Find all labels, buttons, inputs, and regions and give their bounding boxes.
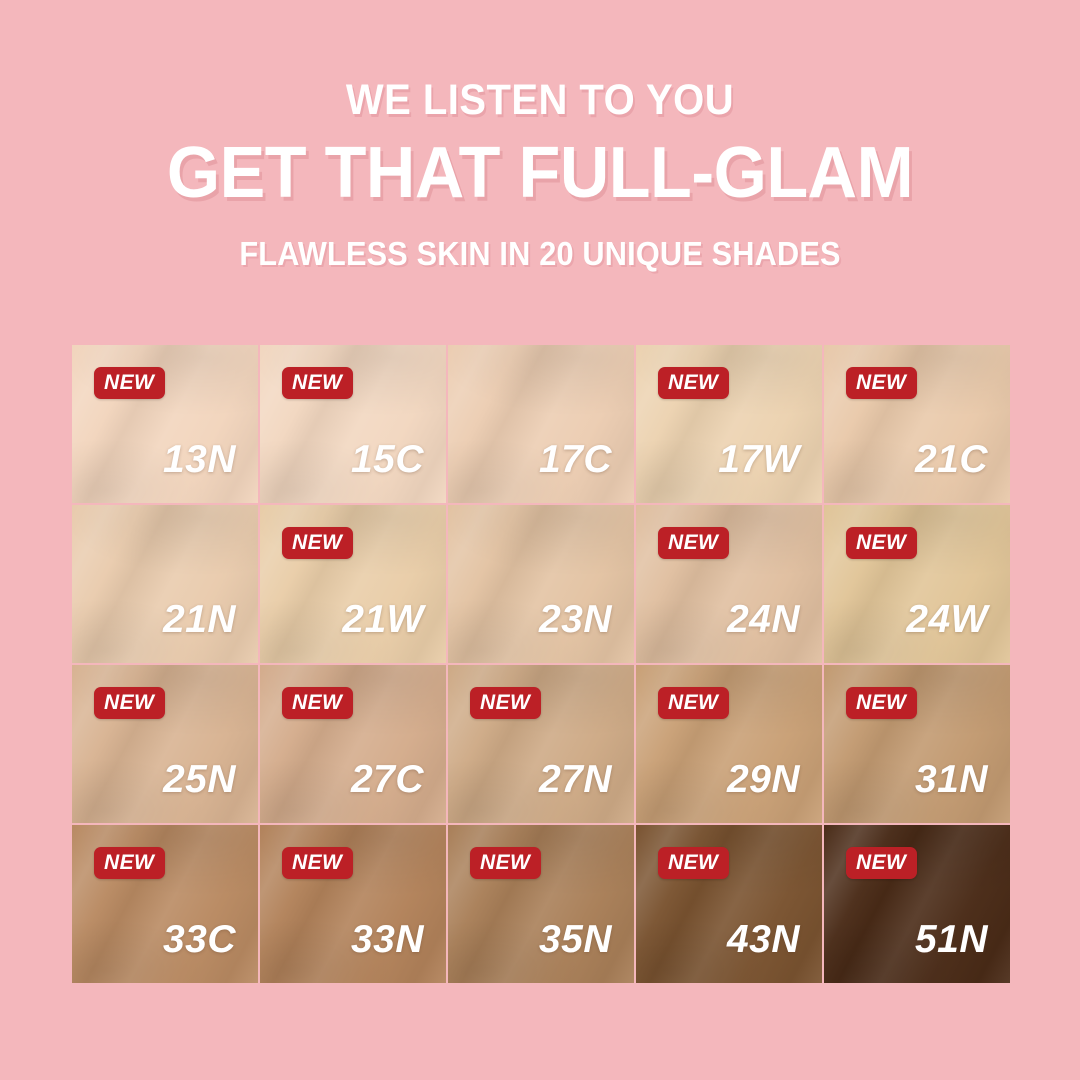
new-badge: NEW xyxy=(658,527,729,559)
shade-swatch[interactable]: NEW17C xyxy=(448,345,634,503)
shade-swatch[interactable]: NEW21N xyxy=(72,505,258,663)
shade-swatch[interactable]: NEW51N xyxy=(824,825,1010,983)
shade-code-label: 17C xyxy=(539,440,612,479)
shade-swatch[interactable]: NEW27N xyxy=(448,665,634,823)
shade-code-label: 24W xyxy=(906,600,988,639)
shade-code-label: 21C xyxy=(915,440,988,479)
shade-code-label: 13N xyxy=(163,440,236,479)
new-badge: NEW xyxy=(846,847,917,879)
new-badge: NEW xyxy=(846,367,917,399)
shade-code-label: 17W xyxy=(718,440,800,479)
new-badge: NEW xyxy=(470,687,541,719)
new-badge: NEW xyxy=(658,687,729,719)
header-block: WE LISTEN TO YOU GET THAT FULL-GLAM FLAW… xyxy=(0,78,1080,272)
new-badge: NEW xyxy=(470,847,541,879)
shade-code-label: 25N xyxy=(163,760,236,799)
shade-code-label: 33N xyxy=(351,920,424,959)
shade-swatch[interactable]: NEW21C xyxy=(824,345,1010,503)
shade-swatch[interactable]: NEW21W xyxy=(260,505,446,663)
shade-code-label: 33C xyxy=(163,920,236,959)
shade-swatch[interactable]: NEW33N xyxy=(260,825,446,983)
shade-code-label: 21N xyxy=(163,600,236,639)
shade-swatch-grid: NEW13NNEW15CNEW17CNEW17WNEW21CNEW21NNEW2… xyxy=(72,345,1010,983)
shade-code-label: 43N xyxy=(727,920,800,959)
shade-swatch[interactable]: NEW43N xyxy=(636,825,822,983)
header-kicker: WE LISTEN TO YOU xyxy=(38,78,1042,123)
shade-code-label: 27N xyxy=(539,760,612,799)
shade-swatch[interactable]: NEW13N xyxy=(72,345,258,503)
shade-swatch[interactable]: NEW31N xyxy=(824,665,1010,823)
new-badge: NEW xyxy=(658,847,729,879)
new-badge: NEW xyxy=(282,687,353,719)
new-badge: NEW xyxy=(282,847,353,879)
shade-code-label: 23N xyxy=(539,600,612,639)
shade-code-label: 27C xyxy=(351,760,424,799)
shade-code-label: 15C xyxy=(351,440,424,479)
shade-code-label: 51N xyxy=(915,920,988,959)
new-badge: NEW xyxy=(846,527,917,559)
header-subline: FLAWLESS SKIN IN 20 UNIQUE SHADES xyxy=(38,237,1042,272)
shade-code-label: 24N xyxy=(727,600,800,639)
shade-swatch[interactable]: NEW27C xyxy=(260,665,446,823)
shade-code-label: 21W xyxy=(342,600,424,639)
new-badge: NEW xyxy=(94,367,165,399)
shade-code-label: 35N xyxy=(539,920,612,959)
shade-swatch[interactable]: NEW17W xyxy=(636,345,822,503)
shade-code-label: 29N xyxy=(727,760,800,799)
shade-swatch[interactable]: NEW35N xyxy=(448,825,634,983)
shade-swatch[interactable]: NEW24W xyxy=(824,505,1010,663)
new-badge: NEW xyxy=(94,687,165,719)
header-headline: GET THAT FULL-GLAM xyxy=(27,137,1053,209)
shade-swatch[interactable]: NEW24N xyxy=(636,505,822,663)
new-badge: NEW xyxy=(658,367,729,399)
new-badge: NEW xyxy=(282,527,353,559)
shade-range-promo-graphic: WE LISTEN TO YOU GET THAT FULL-GLAM FLAW… xyxy=(0,0,1080,1080)
shade-swatch[interactable]: NEW23N xyxy=(448,505,634,663)
shade-swatch[interactable]: NEW29N xyxy=(636,665,822,823)
shade-swatch[interactable]: NEW25N xyxy=(72,665,258,823)
shade-swatch[interactable]: NEW15C xyxy=(260,345,446,503)
new-badge: NEW xyxy=(94,847,165,879)
new-badge: NEW xyxy=(846,687,917,719)
shade-swatch[interactable]: NEW33C xyxy=(72,825,258,983)
new-badge: NEW xyxy=(282,367,353,399)
shade-code-label: 31N xyxy=(915,760,988,799)
